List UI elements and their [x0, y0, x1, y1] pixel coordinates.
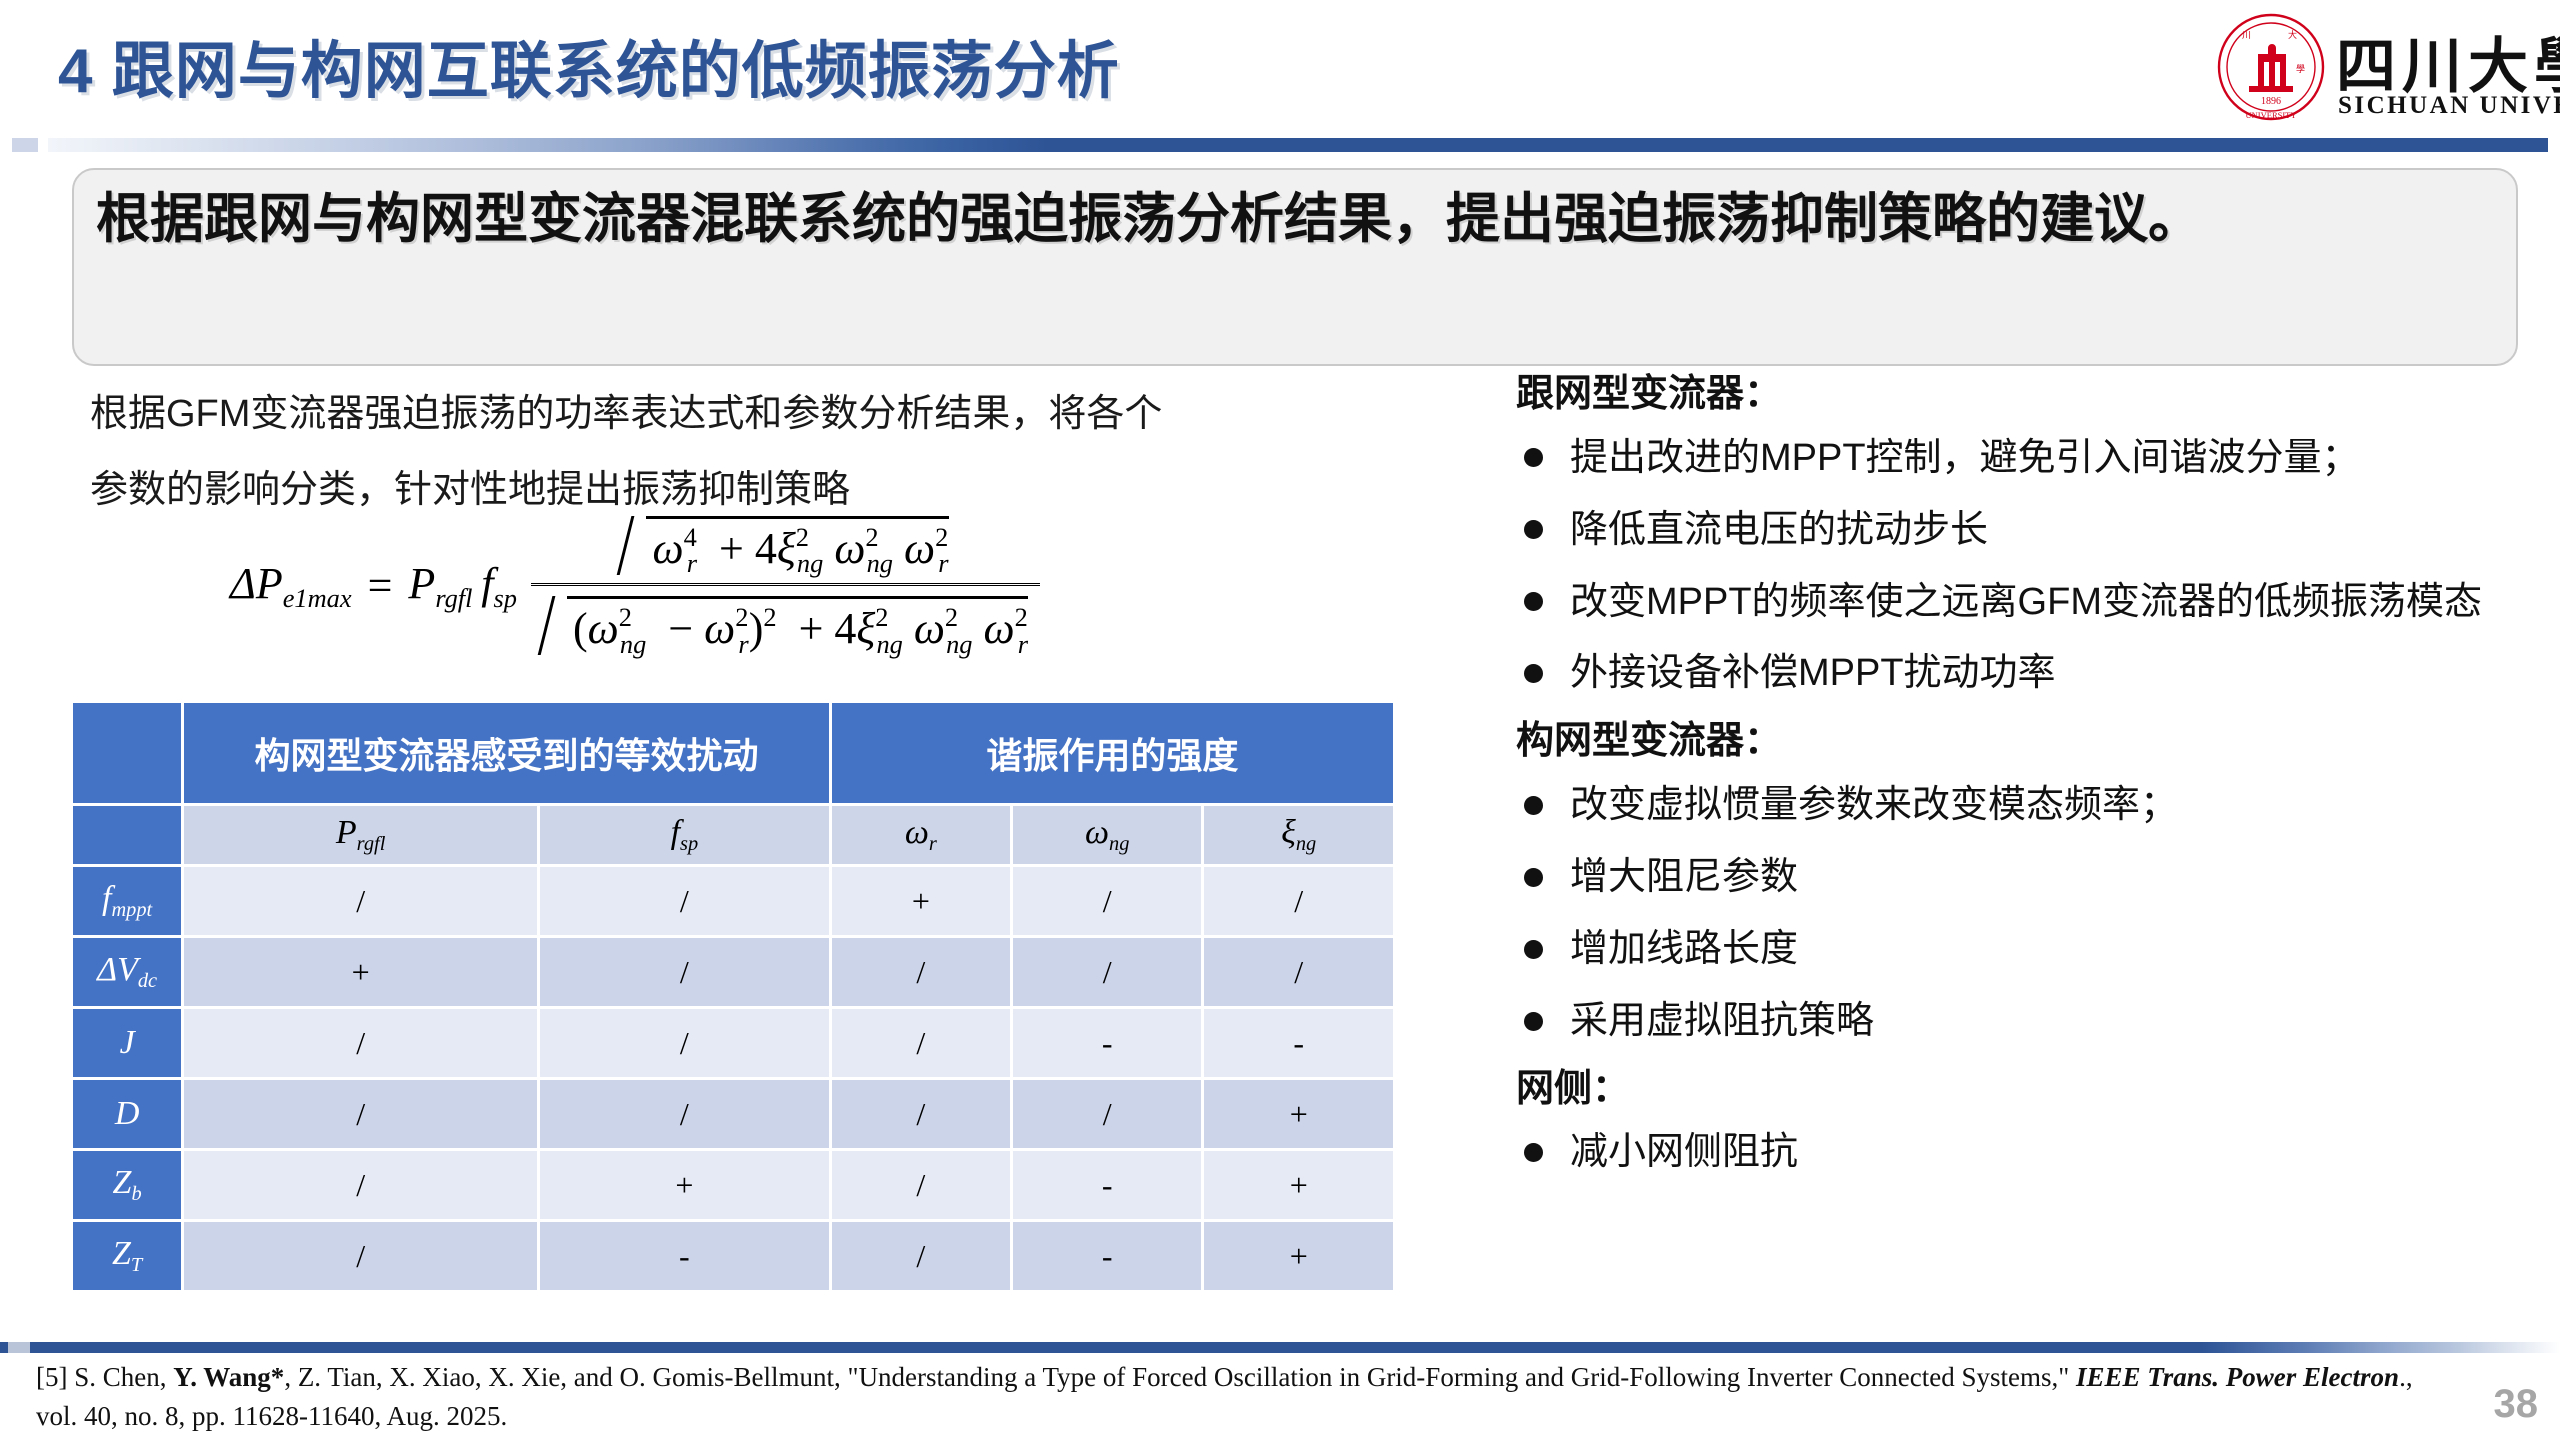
table-cell: / — [540, 1080, 829, 1148]
table-cell: - — [1013, 1009, 1201, 1077]
list-item: 增大阻尼参数 — [1516, 851, 2536, 905]
bullet-list-gfl: 提出改进的MPPT控制，避免引入间谐波分量； 降低直流电压的扰动步长 改变MPP… — [1516, 432, 2536, 702]
table-row-label-zt: ZT — [73, 1222, 181, 1290]
table-row: Zb / + / - + — [73, 1151, 1393, 1219]
table-cell: / — [1204, 867, 1393, 935]
formula-lhs: ΔPe1max — [230, 558, 352, 614]
bullet-list-grid: 减小网侧阻抗 — [1516, 1126, 2536, 1180]
table-cell: / — [540, 938, 829, 1006]
strategy-table: 构网型变流器感受到的等效扰动 谐振作用的强度 Prgfl fsp ωr ωng — [70, 700, 1396, 1293]
university-seal-icon: 1896 川 大 學 UNIVERSITY — [2216, 12, 2326, 122]
formula-numerator: ω4r + 4ξ2ng ω2ng ω2r — [610, 512, 960, 583]
bullet-icon — [1524, 520, 1543, 539]
list-item: 减小网侧阻抗 — [1516, 1126, 2536, 1180]
list-item-label: 外接设备补偿MPPT扰动功率 — [1570, 652, 2056, 694]
table-cell: / — [1013, 938, 1201, 1006]
table-cell: - — [540, 1222, 829, 1290]
table-cell: / — [832, 1009, 1010, 1077]
footer-accent-square — [8, 1342, 30, 1353]
table-cell: + — [1204, 1222, 1393, 1290]
svg-text:學: 學 — [2296, 63, 2305, 74]
footer-divider-bar — [0, 1342, 2560, 1353]
seal-year: 1896 — [2261, 96, 2281, 107]
table-row-label-zb: Zb — [73, 1151, 181, 1219]
table-symbol-row: Prgfl fsp ωr ωng ξng — [73, 806, 1393, 864]
list-item-label: 提出改进的MPPT控制，避免引入间谐波分量； — [1570, 437, 2360, 479]
bullet-icon — [1524, 796, 1543, 815]
bullet-icon — [1524, 592, 1543, 611]
table-cell: - — [1204, 1009, 1393, 1077]
table-symbol-fsp: fsp — [540, 806, 829, 864]
lead-paragraph: 根据GFM变流器强迫振荡的功率表达式和参数分析结果，将各个 参数的影响分类，针对… — [90, 376, 1490, 528]
bullet-icon — [1524, 940, 1543, 959]
power-formula: ΔPe1max = Prgfl fsp ω4r + 4ξ2ng ω2ng ω2r… — [230, 512, 1040, 660]
list-item: 改变MPPT的频率使之远离GFM变流器的低频振荡模态 — [1516, 576, 2536, 630]
list-item-label: 改变MPPT的频率使之远离GFM变流器的低频振荡模态 — [1570, 581, 2482, 623]
table-row-label-fmppt: fmppt — [73, 867, 181, 935]
university-logo: 1896 川 大 學 UNIVERSITY 四川大學 SICHUAN UNIVE… — [2216, 8, 2546, 126]
table-cell: / — [1013, 867, 1201, 935]
bullet-icon — [1524, 448, 1543, 467]
citation: [5] S. Chen, Y. Wang*, Z. Tian, X. Xiao,… — [36, 1358, 2456, 1436]
table-cell: / — [540, 867, 829, 935]
table-cell: + — [184, 938, 537, 1006]
table-group-header-resonance: 谐振作用的强度 — [832, 703, 1393, 803]
table-cell: / — [832, 1080, 1010, 1148]
list-item-label: 增加线路长度 — [1570, 928, 1798, 970]
table-row: ZT / - / - + — [73, 1222, 1393, 1290]
table-header-row: 构网型变流器感受到的等效扰动 谐振作用的强度 — [73, 703, 1393, 803]
table-row: J / / / - - — [73, 1009, 1393, 1077]
table-cell: / — [184, 1222, 537, 1290]
table-cell: - — [1013, 1151, 1201, 1219]
table-corner-cell — [73, 703, 181, 803]
lead-line-1: 根据GFM变流器强迫振荡的功率表达式和参数分析结果，将各个 — [90, 376, 1490, 452]
table-cell: / — [184, 1080, 537, 1148]
list-item-label: 降低直流电压的扰动步长 — [1570, 509, 1988, 551]
table-symbol-omega-r: ωr — [832, 806, 1010, 864]
list-item: 提出改进的MPPT控制，避免引入间谐波分量； — [1516, 432, 2536, 486]
table-row: D / / / / + — [73, 1080, 1393, 1148]
table-cell: / — [540, 1009, 829, 1077]
bullet-icon — [1524, 1012, 1543, 1031]
table-cell: + — [832, 867, 1010, 935]
list-item: 采用虚拟阻抗策略 — [1516, 995, 2536, 1049]
table-row-label-j: J — [73, 1009, 181, 1077]
list-item-label: 采用虚拟阻抗策略 — [1570, 1000, 1874, 1042]
group-heading-grid: 网侧： — [1516, 1067, 2536, 1113]
bullet-icon — [1524, 1143, 1543, 1162]
table-symbol-xi-ng: ξng — [1204, 806, 1393, 864]
list-item-label: 增大阻尼参数 — [1570, 856, 1798, 898]
formula-equals: = — [368, 560, 393, 611]
table-group-header-disturbance: 构网型变流器感受到的等效扰动 — [184, 703, 828, 803]
list-item: 改变虚拟惯量参数来改变模态频率； — [1516, 779, 2536, 833]
list-item-label: 减小网侧阻抗 — [1570, 1131, 1798, 1173]
table-cell: / — [184, 1009, 537, 1077]
list-item: 增加线路长度 — [1516, 923, 2536, 977]
table-cell: / — [184, 867, 537, 935]
strategy-list-column: 跟网型变流器： 提出改进的MPPT控制，避免引入间谐波分量； 降低直流电压的扰动… — [1516, 372, 2536, 1198]
table-row: fmppt / / + / / — [73, 867, 1393, 935]
list-item: 外接设备补偿MPPT扰动功率 — [1516, 647, 2536, 701]
statement-box: 根据跟网与构网型变流器混联系统的强迫振荡分析结果，提出强迫振荡抑制策略的建议。 — [72, 168, 2518, 366]
header-accent-square — [12, 138, 38, 152]
table-row: ΔVdc + / / / / — [73, 938, 1393, 1006]
table-cell: + — [540, 1151, 829, 1219]
table-symbol-prgfl: Prgfl — [184, 806, 537, 864]
table-row-label-dvdc: ΔVdc — [73, 938, 181, 1006]
statement-text: 根据跟网与构网型变流器混联系统的强迫振荡分析结果，提出强迫振荡抑制策略的建议。 — [96, 184, 2498, 255]
svg-text:UNIVERSITY: UNIVERSITY — [2246, 110, 2297, 120]
logo-name-en: SICHUAN UNIVERSITY — [2338, 92, 2560, 120]
slide-root: 4 跟网与构网互联系统的低频振荡分析 1896 川 大 學 UNIVERSITY… — [0, 0, 2560, 1440]
group-heading-gfl: 跟网型变流器： — [1516, 372, 2536, 418]
citation-journal: IEEE Trans. Power Electron — [2076, 1362, 2399, 1392]
group-heading-gfm: 构网型变流器： — [1516, 719, 2536, 765]
formula-denominator: (ω2ng − ω2r)2 + 4ξ2ng ω2ng ω2r — [531, 583, 1040, 659]
citation-prefix: [5] S. Chen, — [36, 1362, 173, 1392]
list-item-label: 改变虚拟惯量参数来改变模态频率； — [1570, 784, 2178, 826]
table-cell: / — [832, 1222, 1010, 1290]
table-cell: / — [1013, 1080, 1201, 1148]
bullet-list-gfm: 改变虚拟惯量参数来改变模态频率； 增大阻尼参数 增加线路长度 采用虚拟阻抗策略 — [1516, 779, 2536, 1049]
table-cell: + — [1204, 1151, 1393, 1219]
table-symbol-omega-ng: ωng — [1013, 806, 1201, 864]
svg-text:川: 川 — [2242, 30, 2251, 40]
table-symbol-corner — [73, 806, 181, 864]
table-cell: / — [832, 938, 1010, 1006]
bullet-icon — [1524, 868, 1543, 887]
table-cell: / — [184, 1151, 537, 1219]
table-cell: / — [1204, 938, 1393, 1006]
table-row-label-d: D — [73, 1080, 181, 1148]
list-item: 降低直流电压的扰动步长 — [1516, 504, 2536, 558]
formula-fraction: ω4r + 4ξ2ng ω2ng ω2r (ω2ng − ω2r)2 + 4ξ2… — [531, 512, 1040, 660]
table-cell: + — [1204, 1080, 1393, 1148]
formula-prefactor: Prgfl fsp — [408, 558, 517, 614]
table-cell: - — [1013, 1222, 1201, 1290]
svg-text:大: 大 — [2288, 29, 2297, 40]
citation-author-highlight: Y. Wang* — [173, 1362, 284, 1392]
page-number: 38 — [2494, 1382, 2539, 1427]
citation-mid: , Z. Tian, X. Xiao, X. Xie, and O. Gomis… — [284, 1362, 2076, 1392]
header-divider-bar — [48, 138, 2548, 152]
page-title: 4 跟网与构网互联系统的低频振荡分析 — [58, 20, 1120, 110]
bullet-icon — [1524, 664, 1543, 683]
table-cell: / — [832, 1151, 1010, 1219]
